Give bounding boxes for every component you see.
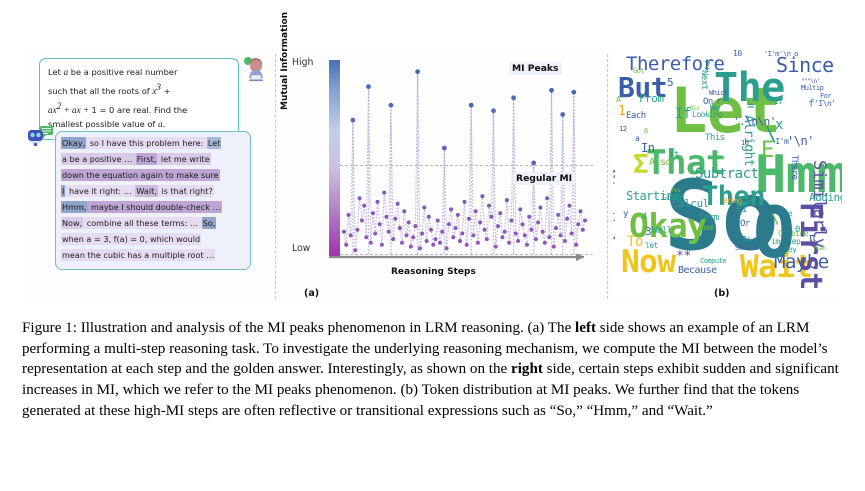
wordcloud-word: 12 xyxy=(619,126,626,133)
wordcloud-word: Term xyxy=(699,214,719,223)
mi-point xyxy=(509,219,513,223)
mi-point xyxy=(581,228,585,232)
mi-point xyxy=(427,215,431,219)
user-avatar-icon xyxy=(242,56,270,84)
mi-point xyxy=(567,204,571,208)
wordcloud-word: Σ xyxy=(633,152,648,178)
regular-mi-annotation: Regular MI xyxy=(513,172,575,185)
y-axis-label: Mutual Information xyxy=(280,12,290,110)
mi-point xyxy=(431,243,435,247)
mi-point xyxy=(476,241,480,245)
token-wordcloud-panel: SoLetHmmTheThatWaitOkayNowThenButTherefo… xyxy=(613,50,842,298)
mi-peak-point xyxy=(469,103,474,108)
mi-point xyxy=(485,237,489,241)
mi-point xyxy=(447,222,451,226)
wordcloud-word: It xyxy=(669,151,679,160)
mi-peaks-annotation: MI Peaks xyxy=(509,62,562,75)
wordcloud-word: Compute xyxy=(700,258,726,265)
mi-point xyxy=(391,237,395,241)
wordcloud-word: 1 xyxy=(618,105,625,118)
wordcloud-word: \n o xyxy=(783,51,798,58)
wordcloud-word: E xyxy=(761,140,774,162)
wordcloud-word: y xyxy=(623,210,628,219)
subfigure-label-a: (a) xyxy=(304,288,319,299)
wordcloud-word: r xyxy=(716,98,721,107)
mi-point xyxy=(364,235,368,239)
mi-chart-panel: Mutual Information High Low Reasoning St… xyxy=(281,48,603,300)
assistant-msg-line-5: Now, combine all these terms: … So, xyxy=(61,216,245,232)
conversation-panel: Let a be a positive real number such tha… xyxy=(23,48,273,298)
user-msg-line-3: smallest possible value of a. xyxy=(48,117,231,132)
panel-divider-right xyxy=(607,54,608,299)
mi-point xyxy=(507,241,511,245)
wordcloud-word: 4 xyxy=(642,213,647,222)
wordcloud-word: = xyxy=(747,100,754,113)
mi-point xyxy=(349,233,353,237)
wordcloud-word: Next xyxy=(699,70,708,90)
mi-point xyxy=(355,228,359,232)
wordcloud-word: Because xyxy=(678,266,717,276)
mi-point xyxy=(487,204,491,208)
user-msg-line-2: ax2 + ax + 1 = 0 are real. Find the xyxy=(48,99,231,118)
mi-point xyxy=(418,246,422,250)
mi-point xyxy=(552,245,556,249)
wordcloud-word: Well xyxy=(652,227,672,236)
mi-point xyxy=(576,222,580,226)
wordcloud-word: This xyxy=(705,134,725,143)
mi-point xyxy=(445,246,449,250)
y-tick-low: Low xyxy=(292,243,310,254)
mi-point xyxy=(358,196,362,200)
caption-segment-1: left xyxy=(575,320,596,336)
mi-point xyxy=(434,237,438,241)
wordcloud-word: 6 xyxy=(644,128,648,135)
mi-point xyxy=(474,209,478,213)
assistant-message-bubble: Okay, so I have this problem here: Let a… xyxy=(55,131,251,270)
figure-caption: Figure 1: Illustration and analysis of t… xyxy=(22,318,844,421)
mi-point xyxy=(518,207,522,211)
mi-point xyxy=(563,239,567,243)
mi-point xyxy=(440,230,444,234)
mi-point xyxy=(378,222,382,226)
subfigure-label-b: (b) xyxy=(714,288,729,299)
wordcloud-word: 'I\n' xyxy=(814,100,836,108)
mi-point xyxy=(460,232,464,236)
mi-point xyxy=(353,248,357,252)
mi-point xyxy=(579,209,583,213)
mi-point xyxy=(373,232,377,236)
wordcloud-word: Multip xyxy=(801,85,823,92)
wordcloud-word: There xyxy=(789,155,798,180)
mi-point xyxy=(525,243,529,247)
mi-point xyxy=(449,207,453,211)
mi-point xyxy=(503,230,507,234)
mi-scatter-plot xyxy=(340,60,593,258)
mi-point xyxy=(371,211,375,215)
mi-point xyxy=(554,226,558,230)
mi-point xyxy=(521,222,525,226)
mi-point xyxy=(384,215,388,219)
mi-peak-point xyxy=(549,88,554,93)
mi-point xyxy=(565,217,569,221)
mi-point xyxy=(556,213,560,217)
mi-point xyxy=(559,233,563,237)
wordcloud-word: Alternatively xyxy=(613,168,616,248)
mi-point xyxy=(478,220,482,224)
wordcloud-word: If xyxy=(675,107,691,121)
assistant-msg-line-3: I have it right: … Wait, is that right? xyxy=(61,184,245,200)
wordcloud-word: ** xyxy=(676,250,691,263)
x-axis-arrow xyxy=(329,254,594,266)
wordcloud-word: Yes xyxy=(671,188,680,194)
wordcloud-word: Yeah xyxy=(813,246,825,252)
wordcloud-word: 10 xyxy=(741,140,748,147)
mi-point xyxy=(402,209,406,213)
caption-segment-0: Illustration and analysis of the MI peak… xyxy=(77,320,575,336)
x-axis-label: Reasoning Steps xyxy=(391,267,476,277)
wordcloud-word: Also xyxy=(649,158,671,168)
mi-point xyxy=(400,241,404,245)
y-tick-high: High xyxy=(292,57,313,68)
panel-divider-left xyxy=(275,54,276,299)
mi-point xyxy=(387,230,391,234)
mi-point xyxy=(342,230,346,234)
mi-point xyxy=(436,219,440,223)
wordcloud-word: π xyxy=(809,232,815,243)
wordcloud-word: O xyxy=(753,198,795,268)
mi-point xyxy=(516,239,520,243)
mi-point xyxy=(438,241,442,245)
mi-point xyxy=(496,224,500,228)
mi-point xyxy=(547,235,551,239)
mi-point xyxy=(409,245,413,249)
mi-point xyxy=(480,194,484,198)
user-msg-line-0: Let a be a positive real number xyxy=(48,65,231,80)
mi-point xyxy=(541,230,545,234)
wordcloud-word: Got xyxy=(633,68,644,75)
wordcloud-word: Div xyxy=(690,106,699,112)
wordcloud-word: let xyxy=(645,242,658,250)
mi-point xyxy=(489,215,493,219)
y-axis-gradient-bar xyxy=(329,60,340,258)
mi-point xyxy=(583,219,587,223)
wordcloud-word: a xyxy=(635,135,639,143)
mi-peak-point xyxy=(491,108,496,113)
assistant-avatar-icon xyxy=(26,126,54,152)
wordcloud-word: From xyxy=(639,93,664,104)
mi-point xyxy=(458,239,462,243)
mi-point xyxy=(413,224,417,228)
assistant-msg-line-1: a be a positive … First, let me write xyxy=(61,152,245,168)
mi-point xyxy=(376,200,380,204)
figure-panels: Let a be a positive real number such tha… xyxy=(23,48,842,303)
mi-point xyxy=(422,206,426,210)
mi-point xyxy=(494,245,498,249)
mi-peak-point xyxy=(351,118,356,123)
mi-point xyxy=(498,211,502,215)
mi-peak-point xyxy=(571,90,576,95)
wordcloud-word: Subtract xyxy=(695,167,758,181)
mi-point xyxy=(344,243,348,247)
mi-point xyxy=(574,243,578,247)
user-msg-line-1: such that all the roots of x3 + xyxy=(48,80,231,99)
figure-root: Let a be a positive real number such tha… xyxy=(0,0,865,491)
caption-prefix: Figure 1: xyxy=(22,320,77,336)
mi-point xyxy=(360,219,364,223)
caption-segment-3: right xyxy=(511,361,543,377)
mi-point xyxy=(538,206,542,210)
wordcloud-word: 'I'm' xyxy=(764,51,783,58)
wordcloud-word: Or xyxy=(740,220,750,229)
wordcloud-word: 10 xyxy=(733,50,742,58)
mi-point xyxy=(425,239,429,243)
mi-point xyxy=(463,200,467,204)
mi-point xyxy=(529,228,533,232)
mi-point xyxy=(471,233,475,237)
wordcloud-word: 5 xyxy=(667,77,673,88)
mi-point xyxy=(465,243,469,247)
mi-point xyxy=(523,233,527,237)
wordcloud-word: Is xyxy=(743,236,750,243)
mi-point xyxy=(456,213,460,217)
mi-point xyxy=(396,202,400,206)
scatter-svg xyxy=(340,60,593,258)
mi-point xyxy=(362,204,366,208)
wordcloud-word: Adding xyxy=(809,192,842,203)
mi-point xyxy=(536,220,540,224)
mi-point xyxy=(451,235,455,239)
wordcloud-word: Which xyxy=(709,90,728,97)
wordcloud-word: P1 xyxy=(736,205,747,215)
mi-point xyxy=(467,217,471,221)
assistant-msg-line-7: mean the cubic has a multiple root … xyxy=(61,248,245,264)
mi-point xyxy=(514,232,518,236)
assistant-msg-line-2: down the equation again to make sure xyxy=(61,168,245,184)
wordcloud-word: 0 xyxy=(795,226,800,235)
mi-point xyxy=(407,220,411,224)
mi-point xyxy=(398,226,402,230)
regular-mi-threshold-line xyxy=(340,165,593,166)
wordcloud-word: A xyxy=(616,96,620,104)
mi-point xyxy=(380,243,384,247)
mi-peak-point xyxy=(389,103,394,108)
mi-point xyxy=(393,217,397,221)
mi-point xyxy=(483,228,487,232)
mi-peak-point xyxy=(442,146,447,151)
mi-point xyxy=(382,191,386,195)
mi-point xyxy=(369,241,373,245)
wordcloud-word: """\n' xyxy=(801,79,820,85)
wordcloud-word: 2 xyxy=(704,60,710,71)
wordcloud-word: use xyxy=(701,224,714,232)
wordcloud-word: Each xyxy=(626,112,646,121)
mi-point xyxy=(545,196,549,200)
wordcloud-word: 3 xyxy=(645,226,651,237)
mi-point xyxy=(570,232,574,236)
assistant-msg-line-0: Okay, so I have this problem here: Let xyxy=(61,136,245,152)
mi-point xyxy=(534,237,538,241)
mi-point xyxy=(505,198,509,202)
wordcloud-word: Since xyxy=(776,55,834,75)
wordcloud-word: Given xyxy=(662,194,684,202)
mi-point xyxy=(543,241,547,245)
wordcloud-word: Now xyxy=(621,247,676,278)
mi-point xyxy=(429,228,433,232)
mi-point xyxy=(454,226,458,230)
mi-peak-point xyxy=(415,69,420,74)
assistant-msg-line-4: Hmm, maybe I should double-check … xyxy=(61,200,245,216)
mi-point xyxy=(347,213,351,217)
mi-point xyxy=(500,235,504,239)
wordcloud-word: On xyxy=(703,98,713,107)
mi-point xyxy=(420,232,424,236)
mi-peak-point xyxy=(366,84,371,89)
mi-peak-point xyxy=(560,112,565,117)
wordcloud-word: 17 xyxy=(774,98,783,106)
mi-peak-point xyxy=(511,95,516,100)
wordcloud-word: To xyxy=(627,235,643,249)
assistant-msg-line-6: when a = 3, f(a) = 0, which would xyxy=(61,232,245,248)
mi-point xyxy=(405,233,409,237)
mi-point xyxy=(411,235,415,239)
user-message-bubble: Let a be a positive real number such tha… xyxy=(39,58,239,140)
mi-point xyxy=(527,215,531,219)
